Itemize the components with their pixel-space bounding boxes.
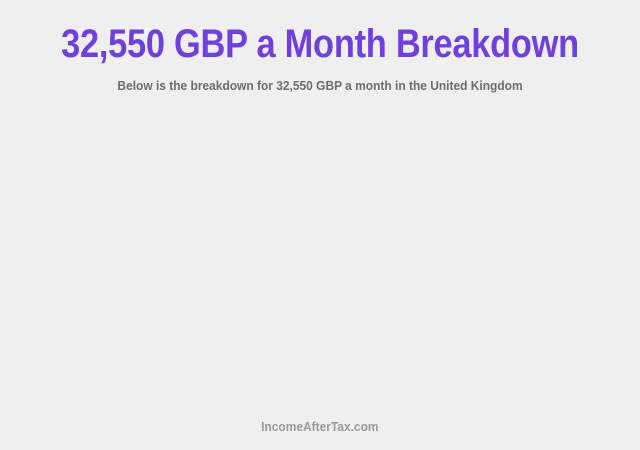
page-root: 32,550 GBP a Month Breakdown Below is th… xyxy=(0,0,640,450)
page-title: 32,550 GBP a Month Breakdown xyxy=(45,22,595,66)
chart-plot-area xyxy=(0,120,640,405)
page-header: 32,550 GBP a Month Breakdown Below is th… xyxy=(0,0,640,94)
page-footer: IncomeAfterTax.com xyxy=(0,418,640,436)
site-credit-label: IncomeAfterTax.com xyxy=(261,419,378,435)
page-subtitle: Below is the breakdown for 32,550 GBP a … xyxy=(26,66,615,94)
